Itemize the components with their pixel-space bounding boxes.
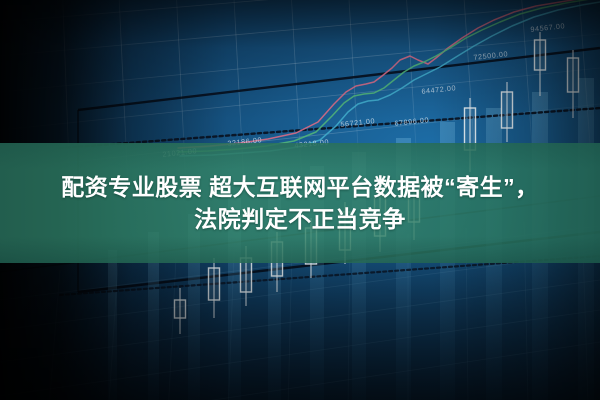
headline-line-1: 配资专业股票 超大互联网平台数据被“寄生”， <box>61 175 538 200</box>
headline-block: 配资专业股票 超大互联网平台数据被“寄生”， 法院判定不正当竞争 <box>0 143 600 263</box>
headline-line-2: 法院判定不正当竞争 <box>194 207 406 232</box>
news-banner-image: 94567.0072500.0064472.0067896.0056721.00… <box>0 0 600 400</box>
